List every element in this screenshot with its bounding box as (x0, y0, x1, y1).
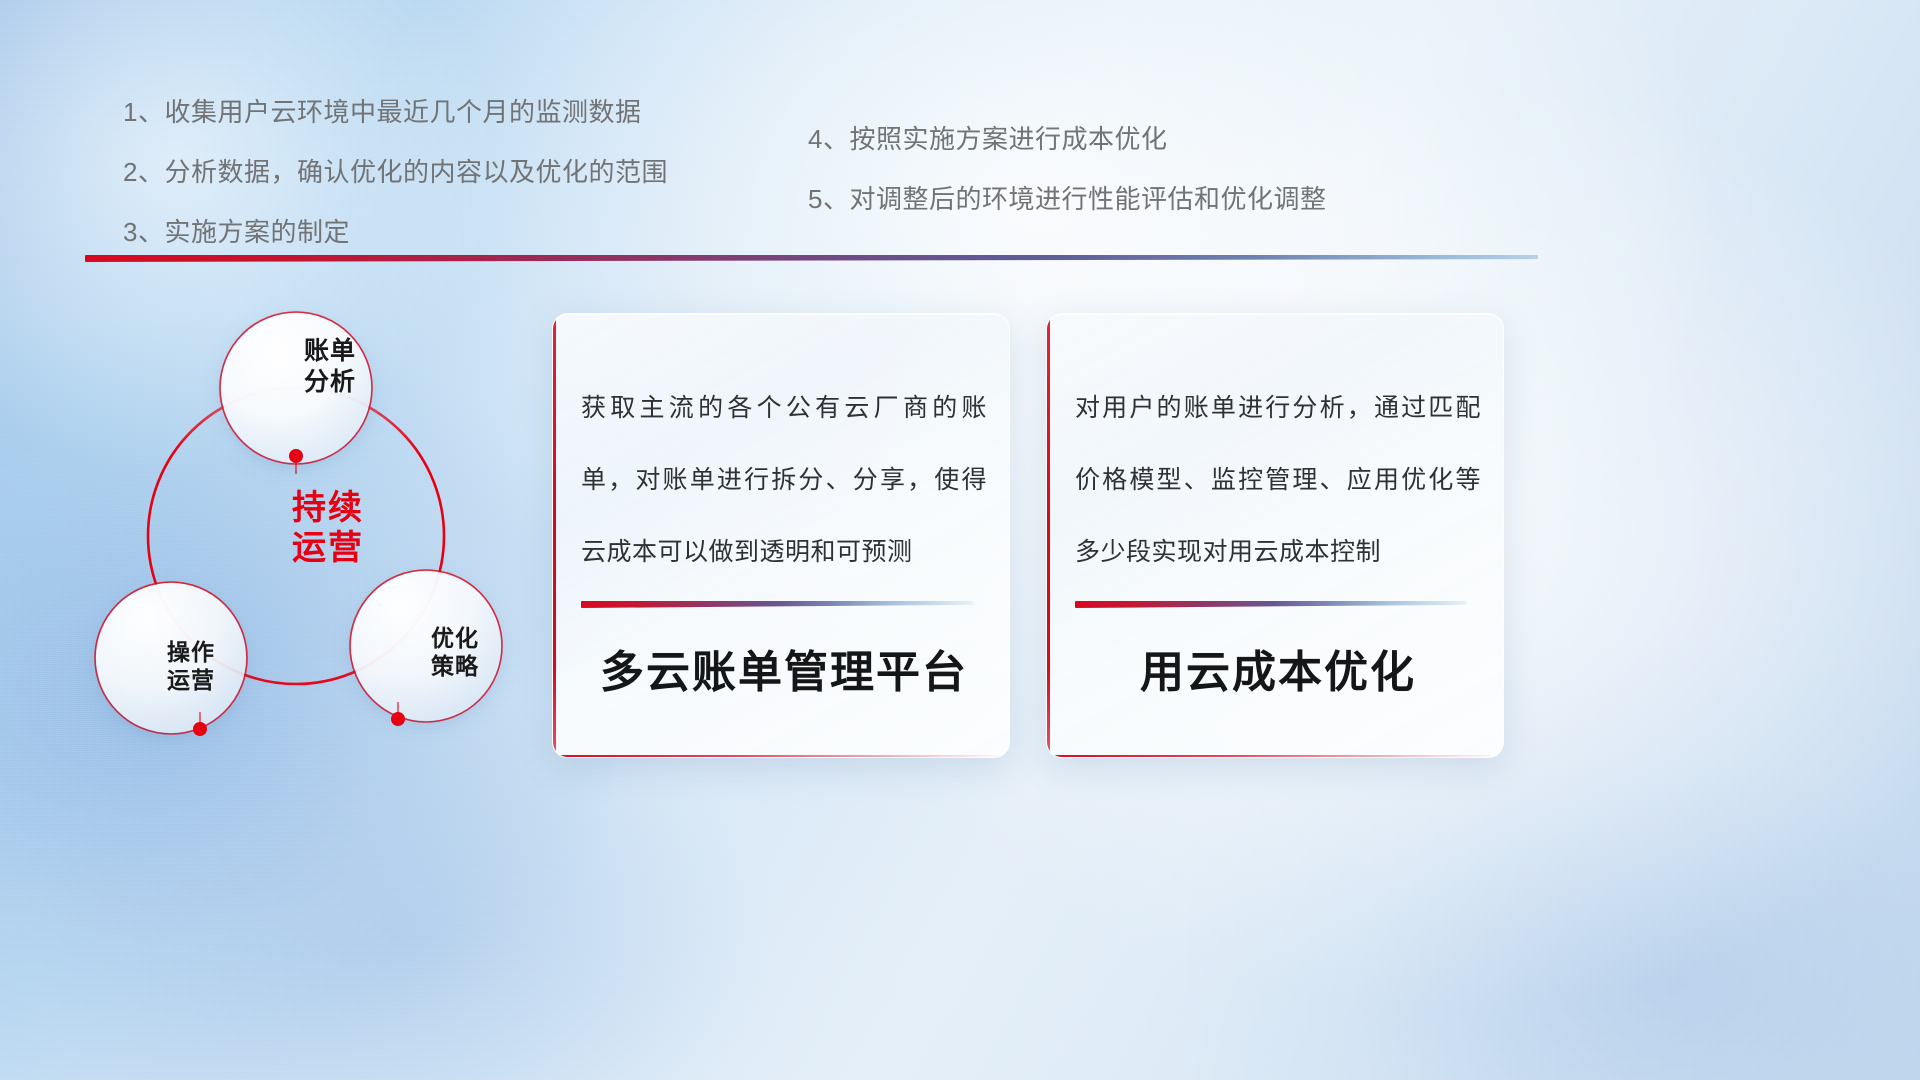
steps-list-right: 4、按照实施方案进行成本优化 5、对调整后的环境进行性能评估和优化调整 (808, 126, 1326, 246)
diagram-dot-top (289, 449, 303, 463)
slide-stage: 1、收集用户云环境中最近几个月的监测数据 2、分析数据，确认优化的内容以及优化的… (0, 0, 1920, 1080)
diagram-dot-bottom-right (391, 712, 405, 726)
feature-card-divider (1075, 601, 1467, 608)
diagram-node-bubble-bottom-left (96, 583, 246, 733)
feature-card-cloud-cost-optimization[interactable]: 对用户的账单进行分析，通过匹配价格模型、监控管理、应用优化等多少段实现对用云成本… (1046, 313, 1504, 758)
step-item-3: 3、实施方案的制定 (123, 219, 668, 245)
feature-card-body: 获取主流的各个公有云厂商的账单，对账单进行拆分、分享，使得云成本可以做到透明和可… (581, 372, 987, 588)
diagram-node-bubble-bottom-right (351, 571, 501, 721)
feature-card-title: 多云账单管理平台 (577, 649, 991, 697)
step-item-2: 2、分析数据，确认优化的内容以及优化的范围 (123, 159, 668, 185)
step-item-4: 4、按照实施方案进行成本优化 (808, 126, 1326, 152)
feature-card-body: 对用户的账单进行分析，通过匹配价格模型、监控管理、应用优化等多少段实现对用云成本… (1075, 372, 1481, 588)
feature-card-multicloud-billing[interactable]: 获取主流的各个公有云厂商的账单，对账单进行拆分、分享，使得云成本可以做到透明和可… (552, 313, 1010, 758)
feature-card-title: 用云成本优化 (1071, 649, 1485, 697)
diagram-dot-bottom-left (193, 722, 207, 736)
section-divider-rule (85, 255, 1538, 262)
feature-card-divider (581, 601, 973, 608)
diagram-node-bubble-top (221, 313, 371, 463)
step-item-1: 1、收集用户云环境中最近几个月的监测数据 (123, 99, 668, 125)
step-item-5: 5、对调整后的环境进行性能评估和优化调整 (808, 186, 1326, 212)
steps-list-left: 1、收集用户云环境中最近几个月的监测数据 2、分析数据，确认优化的内容以及优化的… (123, 99, 668, 279)
diagram-svg (78, 288, 548, 766)
continuous-operation-diagram: 账单 分析 持续 运营 操作 运营 优化 策略 (78, 288, 548, 766)
